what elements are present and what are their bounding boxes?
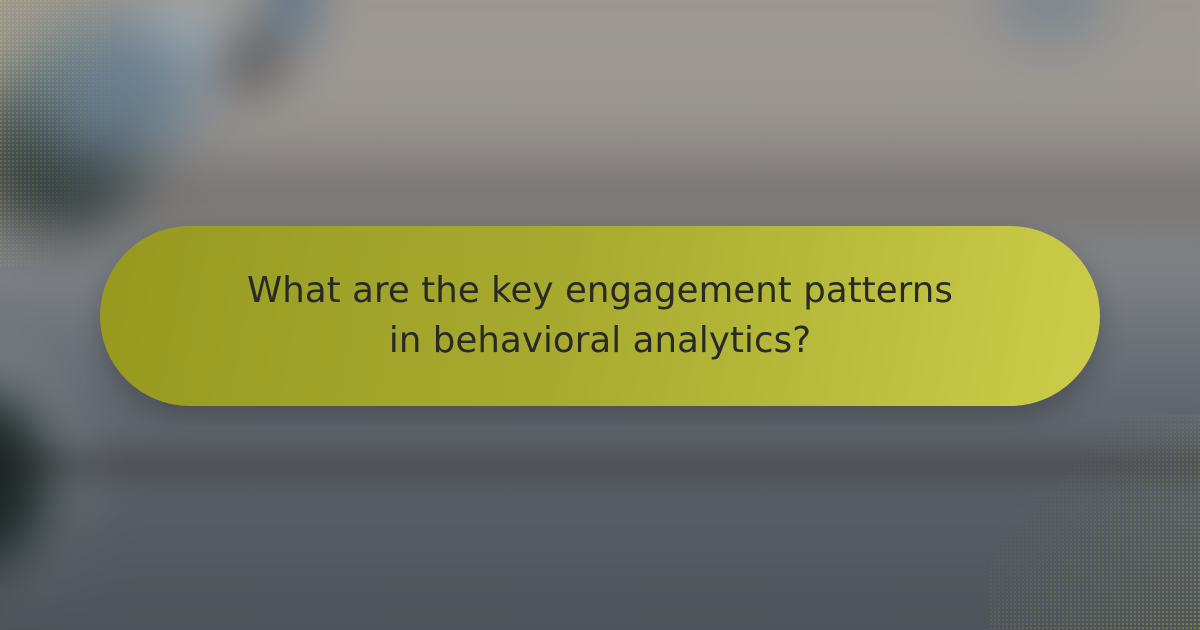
question-card: What are the key engagement patterns in … [100, 226, 1100, 406]
social-card-canvas: What are the key engagement patterns in … [0, 0, 1200, 630]
question-text: What are the key engagement patterns in … [230, 266, 970, 367]
